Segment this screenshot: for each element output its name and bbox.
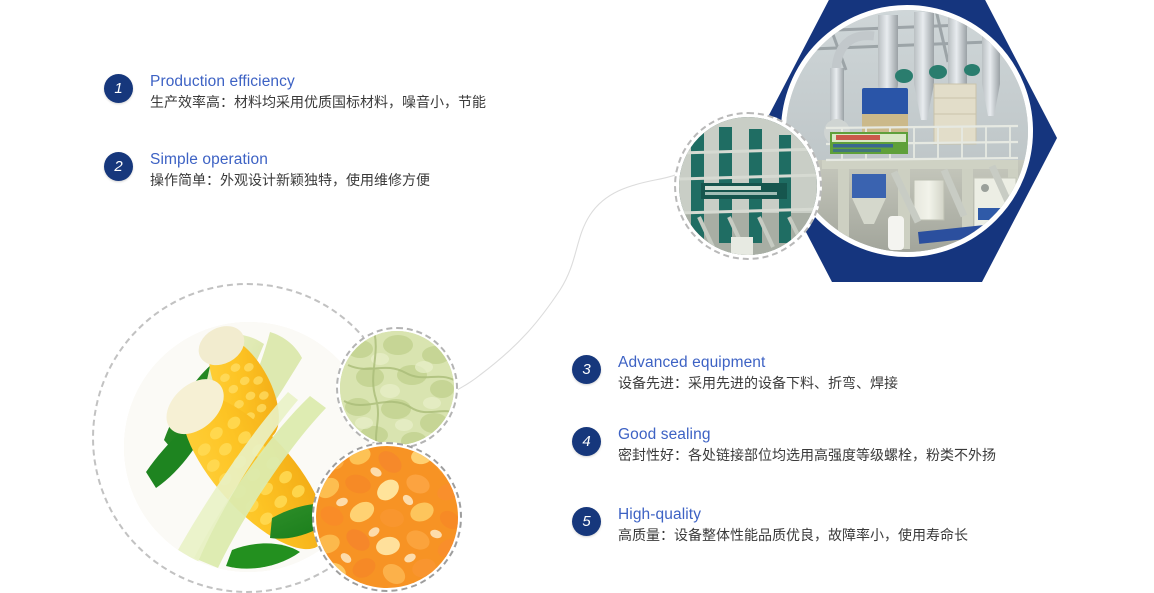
- flour-milling-plant-photo: [781, 5, 1033, 257]
- feature-number-badge: 4: [572, 427, 601, 456]
- feature-description: 操作简单：外观设计新颖独特，使用维修方便: [150, 170, 430, 192]
- feature-text-block: High-quality 高质量：设备整体性能品质优良，故障率小，使用寿命长: [618, 505, 968, 547]
- green-milling-machine-photo: [674, 112, 822, 260]
- feature-title: Good sealing: [618, 425, 996, 444]
- feature-title: High-quality: [618, 505, 968, 524]
- feature-number-badge: 2: [104, 152, 133, 181]
- feature-text-block: Good sealing 密封性好：各处链接部位均选用高强度等级螺栓，粉类不外扬: [618, 425, 996, 467]
- feature-item-4[interactable]: 4 Good sealing 密封性好：各处链接部位均选用高强度等级螺栓，粉类不…: [572, 425, 996, 467]
- orange-corn-grits-photo: [312, 442, 462, 592]
- feature-title: Advanced equipment: [618, 353, 898, 372]
- feature-title: Production efficiency: [150, 72, 486, 91]
- feature-item-3[interactable]: 3 Advanced equipment 设备先进：采用先进的设备下料、折弯、焊…: [572, 353, 898, 395]
- feature-item-5[interactable]: 5 High-quality 高质量：设备整体性能品质优良，故障率小，使用寿命长: [572, 505, 968, 547]
- feature-title: Simple operation: [150, 150, 430, 169]
- feature-description: 设备先进：采用先进的设备下料、折弯、焊接: [618, 373, 898, 395]
- feature-description: 密封性好：各处链接部位均选用高强度等级螺栓，粉类不外扬: [618, 445, 996, 467]
- feature-number-badge: 3: [572, 355, 601, 384]
- feature-description: 生产效率高：材料均采用优质国标材料，噪音小，节能: [150, 92, 486, 114]
- feature-number-badge: 5: [572, 507, 601, 536]
- feature-text-block: Simple operation 操作简单：外观设计新颖独特，使用维修方便: [150, 150, 430, 192]
- feature-description: 高质量：设备整体性能品质优良，故障率小，使用寿命长: [618, 525, 968, 547]
- feature-text-block: Advanced equipment 设备先进：采用先进的设备下料、折弯、焊接: [618, 353, 898, 395]
- green-corn-meal-photo: [336, 327, 458, 449]
- feature-item-2[interactable]: 2 Simple operation 操作简单：外观设计新颖独特，使用维修方便: [104, 150, 430, 192]
- feature-number-badge: 1: [104, 74, 133, 103]
- feature-text-block: Production efficiency 生产效率高：材料均采用优质国标材料，…: [150, 72, 486, 114]
- feature-item-1[interactable]: 1 Production efficiency 生产效率高：材料均采用优质国标材…: [104, 72, 486, 114]
- infographic-stage: 1 Production efficiency 生产效率高：材料均采用优质国标材…: [0, 0, 1154, 591]
